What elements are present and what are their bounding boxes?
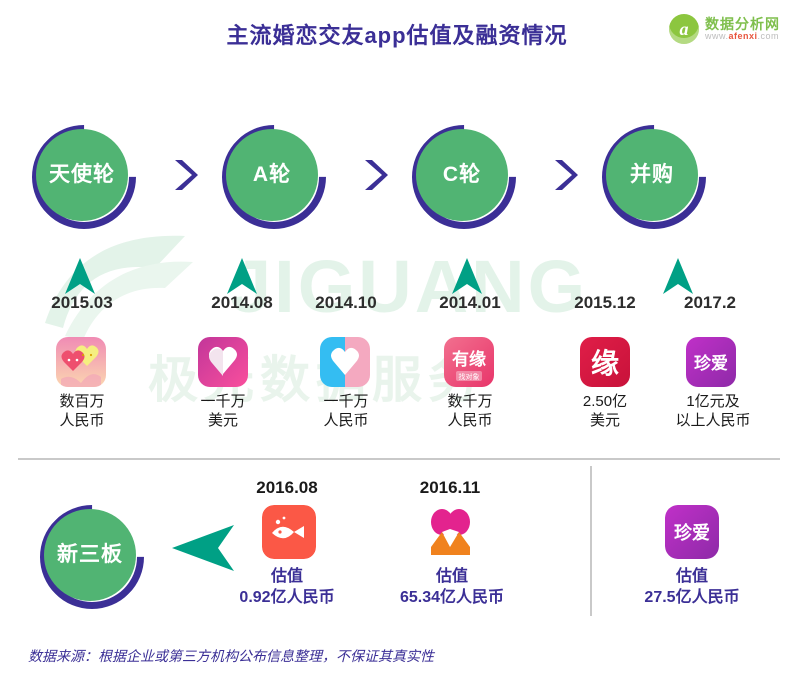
yuan-icon-art: 缘: [580, 337, 630, 387]
blue-pink-heart-icon-art: [320, 337, 370, 387]
up-arrow-icon-1: [65, 258, 95, 294]
amount-line-2b: 美元: [163, 412, 283, 431]
date-label-5: 2015.12: [545, 293, 665, 313]
date-label-1: 2015.03: [22, 293, 142, 313]
amount-label-3: 一千万 人民币: [286, 393, 406, 431]
fish-icon-art: [262, 505, 316, 559]
two-people-app-icon[interactable]: [423, 505, 477, 559]
valuation-value-3: 27.5亿人民币: [612, 588, 772, 609]
amount-line-1a: 数百万: [22, 393, 142, 412]
logo-name: 数据分析网: [705, 17, 780, 32]
listing-valuation-1: 估值 0.92亿人民币: [212, 567, 362, 609]
valuation-label-2: 估值: [372, 567, 532, 588]
up-arrow-icon-3: [452, 258, 482, 294]
two-hearts-icon-art: [56, 337, 106, 387]
source-note: 数据来源：根据企业或第三方机构公布信息整理，不保证其真实性: [28, 646, 434, 666]
logo-url: www.afenxi.com: [705, 32, 780, 41]
listing-date-1: 2016.08: [222, 478, 352, 498]
valuation-label-1: 估值: [212, 567, 362, 588]
zhenai-icon-art: 珍爱: [686, 337, 736, 387]
stage-label-a: A轮: [226, 129, 318, 221]
valuation-value-1: 0.92亿人民币: [212, 588, 362, 609]
stage-label-angel: 天使轮: [36, 129, 128, 221]
stage-circle-c[interactable]: C轮: [412, 125, 516, 229]
left-arrow-icon: [172, 525, 234, 571]
pink-heart-icon-art: [198, 337, 248, 387]
amount-line-1b: 人民币: [22, 412, 142, 431]
valuation-value-2: 65.34亿人民币: [372, 588, 532, 609]
listing-valuation-2: 估值 65.34亿人民币: [372, 567, 532, 609]
amount-line-5a: 2.50亿: [545, 393, 665, 412]
amount-line-4b: 人民币: [410, 412, 530, 431]
youyuan-icon-art: 有缘 找对象: [444, 337, 494, 387]
amount-line-6b: 以上人民币: [651, 412, 775, 431]
listing-valuation-3: 估值 27.5亿人民币: [612, 567, 772, 609]
two-hearts-app-icon[interactable]: [56, 337, 106, 387]
two-people-icon-art: [423, 505, 477, 559]
logo-url-prefix: www.: [705, 31, 729, 41]
infographic-root: JIGUANG 极光数据服务 主流婚恋交友app估值及融资情况 a 数据分析网 …: [0, 0, 794, 689]
stage-text: 天使轮: [49, 163, 115, 187]
stage-circle-a[interactable]: A轮: [222, 125, 326, 229]
stage-circle-neeq[interactable]: 新三板: [40, 505, 144, 609]
date-label-4: 2014.01: [410, 293, 530, 313]
chevron-right-icon-3: [552, 158, 578, 192]
stage-text: A轮: [253, 163, 291, 187]
zhenai-app-icon-bottom[interactable]: 珍爱: [665, 505, 719, 559]
amount-label-4: 数千万 人民币: [410, 393, 530, 431]
svg-text:珍爱: 珍爱: [674, 522, 710, 543]
blue-pink-heart-app-icon[interactable]: [320, 337, 370, 387]
logo-a-icon: a: [669, 14, 699, 44]
yuan-app-icon[interactable]: 缘: [580, 337, 630, 387]
stage-label-neeq: 新三板: [44, 509, 136, 601]
watermark-latin: JIGUANG: [230, 244, 588, 329]
svg-text:珍爱: 珍爱: [694, 353, 728, 373]
amount-label-1: 数百万 人民币: [22, 393, 142, 431]
chevron-right-icon-1: [172, 158, 198, 192]
stage-text: 并购: [630, 163, 674, 187]
chevron-right-icon-2: [362, 158, 388, 192]
logo-url-suffix: .com: [758, 31, 780, 41]
svg-text:有缘: 有缘: [452, 349, 486, 369]
logo-text: 数据分析网 www.afenxi.com: [705, 17, 780, 41]
logo-url-brand: afenxi: [729, 31, 758, 41]
stage-text: 新三板: [57, 543, 123, 567]
up-arrow-icon-2: [227, 258, 257, 294]
zhenai-icon-art-bottom: 珍爱: [665, 505, 719, 559]
listing-date-2: 2016.11: [385, 478, 515, 498]
svg-text:找对象: 找对象: [459, 372, 480, 381]
stage-circle-merger[interactable]: 并购: [602, 125, 706, 229]
svg-text:缘: 缘: [591, 348, 619, 380]
date-label-6: 2017.2: [655, 293, 765, 313]
date-label-3: 2014.10: [286, 293, 406, 313]
amount-line-2a: 一千万: [163, 393, 283, 412]
stage-circle-angel[interactable]: 天使轮: [32, 125, 136, 229]
pink-heart-app-icon[interactable]: [198, 337, 248, 387]
stage-text: C轮: [443, 163, 481, 187]
valuation-label-3: 估值: [612, 567, 772, 588]
watermark-logo-icon: [35, 228, 195, 353]
up-arrow-icon-4: [663, 258, 693, 294]
amount-line-4a: 数千万: [410, 393, 530, 412]
amount-label-5: 2.50亿 美元: [545, 393, 665, 431]
amount-line-5b: 美元: [545, 412, 665, 431]
amount-line-3a: 一千万: [286, 393, 406, 412]
site-logo: a 数据分析网 www.afenxi.com: [669, 14, 780, 44]
amount-line-3b: 人民币: [286, 412, 406, 431]
amount-label-2: 一千万 美元: [163, 393, 283, 431]
amount-line-6a: 1亿元及: [651, 393, 775, 412]
stage-label-merger: 并购: [606, 129, 698, 221]
amount-label-6: 1亿元及 以上人民币: [651, 393, 775, 431]
vertical-divider: [590, 466, 592, 616]
zhenai-app-icon[interactable]: 珍爱: [686, 337, 736, 387]
date-label-2: 2014.08: [182, 293, 302, 313]
horizontal-divider: [18, 458, 780, 460]
youyuan-app-icon[interactable]: 有缘 找对象: [444, 337, 494, 387]
fish-app-icon[interactable]: [262, 505, 316, 559]
stage-label-c: C轮: [416, 129, 508, 221]
